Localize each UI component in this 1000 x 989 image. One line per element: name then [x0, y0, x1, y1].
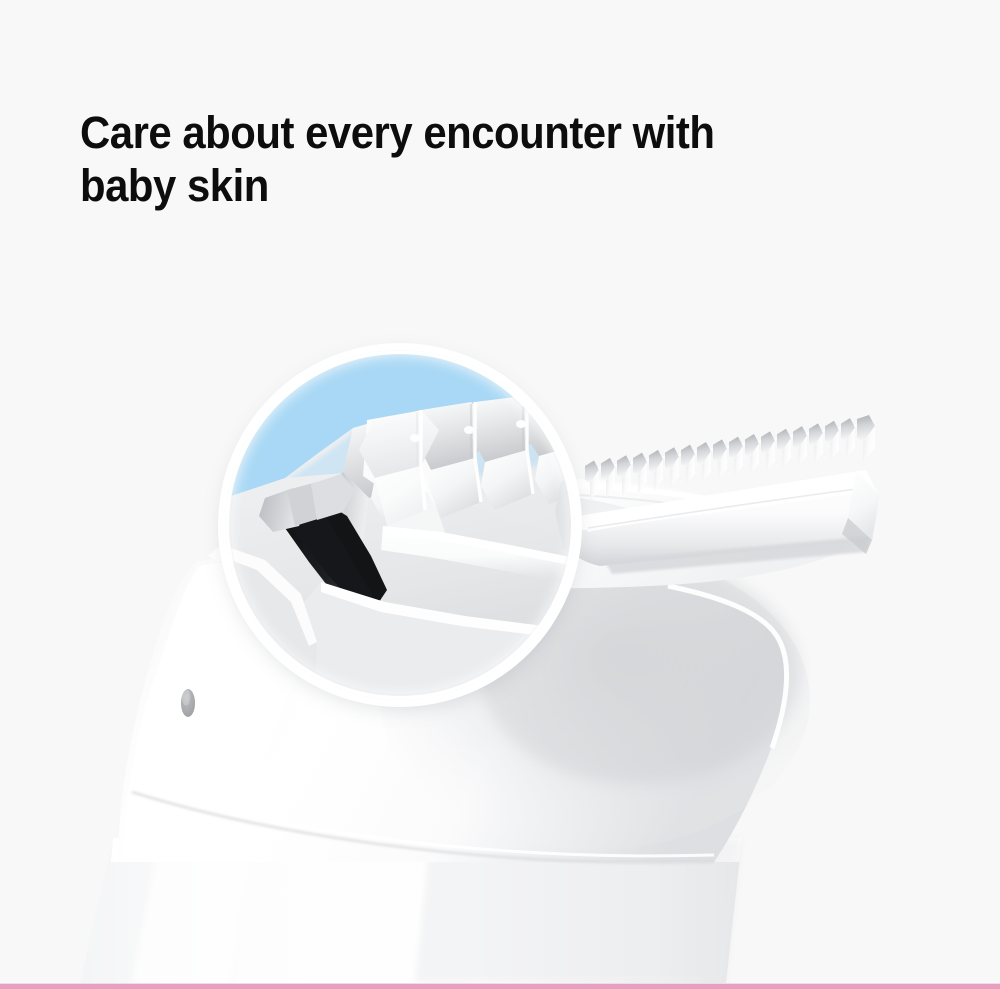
zoom-detail-content: [225, 350, 575, 700]
zoom-detail-circle: [225, 350, 575, 700]
accent-bar-fill: [0, 984, 1000, 989]
feature-card-stage: Care about every encounter with baby ski…: [0, 0, 1000, 989]
bottom-accent-bar: [0, 983, 1000, 989]
comb-blade-assembly: [560, 414, 880, 574]
